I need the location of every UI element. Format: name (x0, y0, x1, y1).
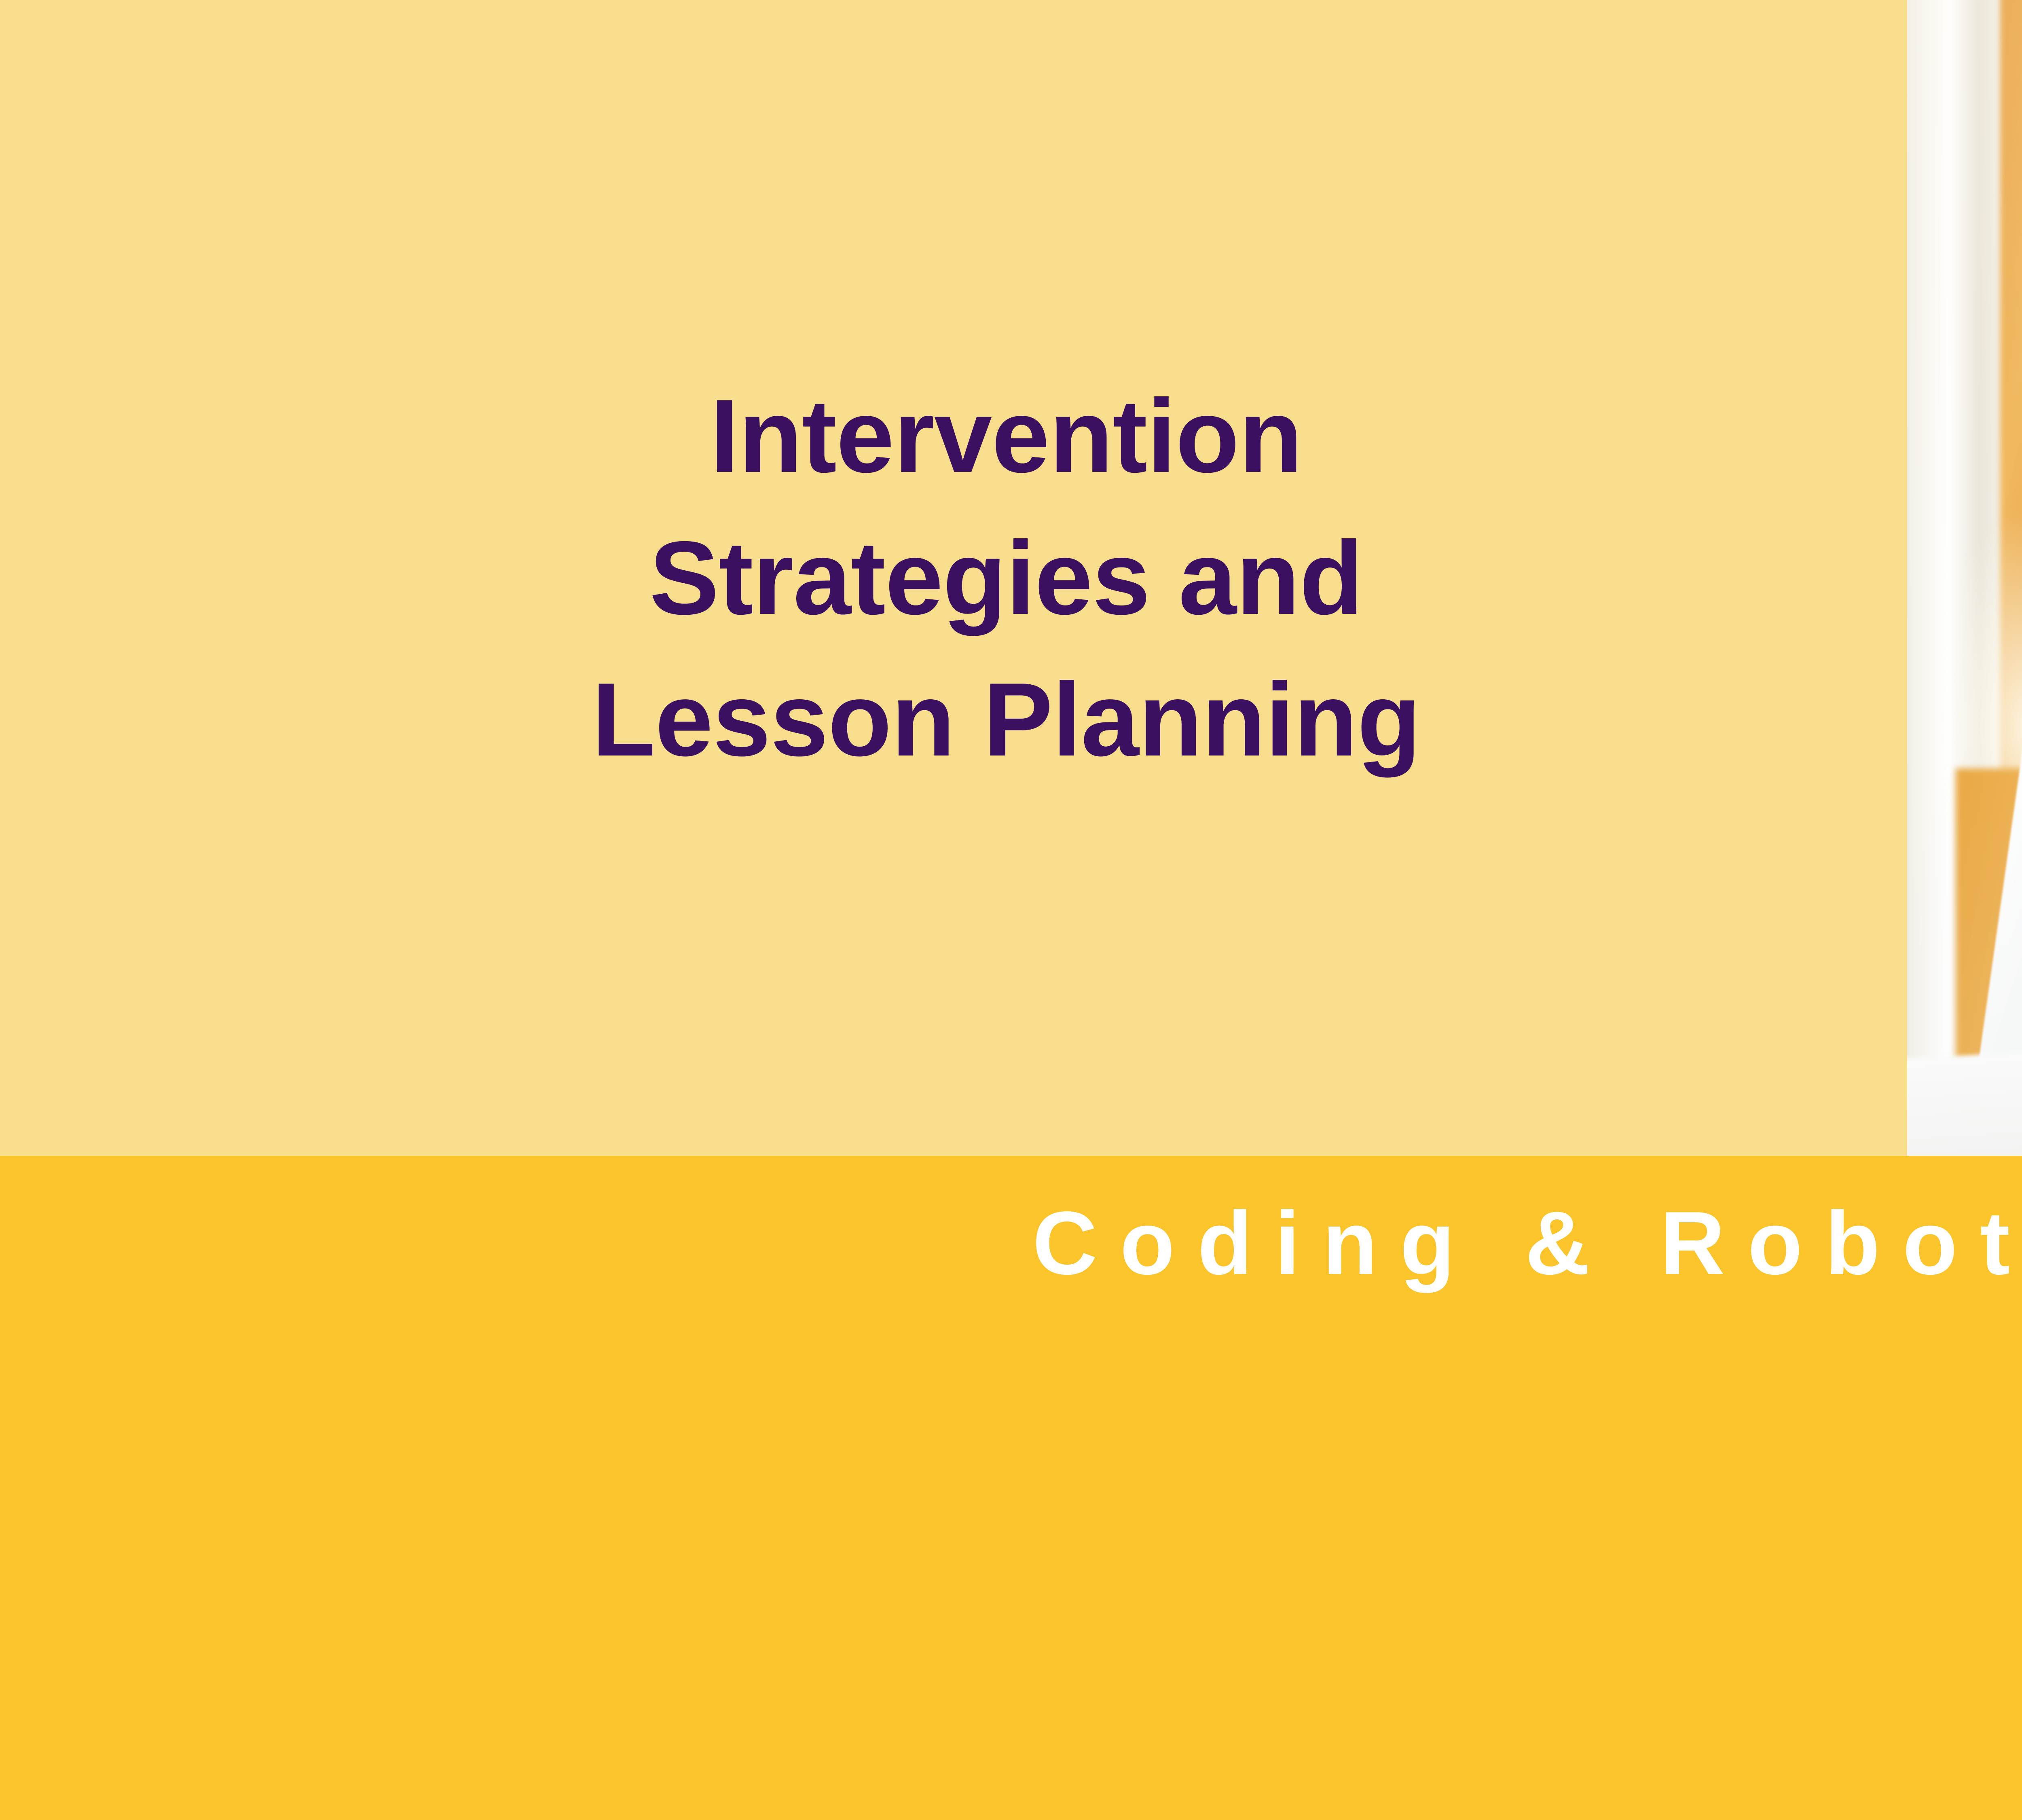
slide-canvas: Intervention Strategies and Lesson Plann… (0, 0, 2022, 1820)
title-line-3: Lesson Planning (592, 649, 1420, 791)
title-line-2: Strategies and (649, 507, 1363, 649)
subtitle-text: Coding & Robotics (0, 1196, 2022, 1291)
title-line-1: Intervention (710, 365, 1302, 507)
hero-photo: c o (1907, 0, 2022, 1156)
top-band: Intervention Strategies and Lesson Plann… (0, 0, 2022, 1156)
page-title: Intervention Strategies and Lesson Plann… (0, 0, 1907, 1156)
